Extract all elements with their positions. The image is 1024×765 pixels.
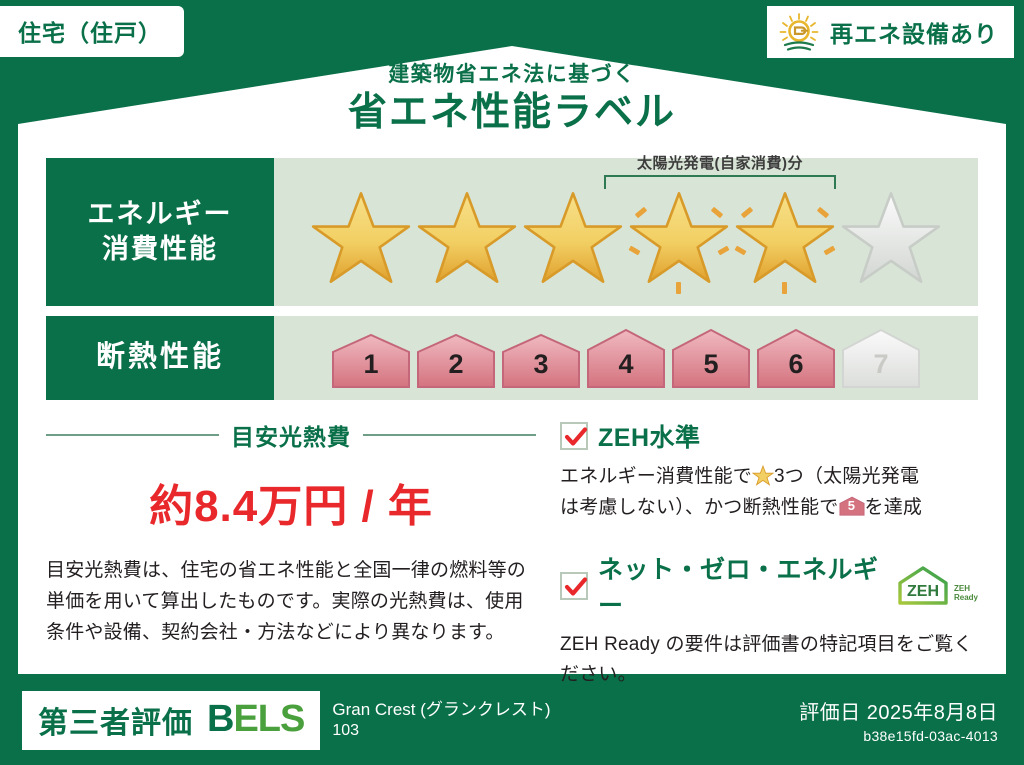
- star-filled-solar: [733, 186, 837, 290]
- energy-label-line1: エネルギー: [88, 197, 233, 232]
- zeh-standard-title: ZEH水準: [598, 418, 701, 454]
- insulation-level-number: 1: [330, 349, 412, 380]
- zeh-standard-header: ZEH水準: [560, 418, 978, 454]
- zeh-ready-line2: Ready: [954, 593, 978, 602]
- zeh-standard-body: エネルギー消費性能で3つ（太陽光発電は考慮しない）、かつ断熱性能で5を達成: [560, 462, 978, 524]
- insulation-level-number: 3: [500, 349, 582, 380]
- insulation-level-number: 5: [670, 349, 752, 380]
- energy-performance-row: エネルギー 消費性能 太陽光発電(自家消費)分: [46, 158, 978, 306]
- star-filled-solar: [627, 186, 731, 290]
- insulation-performance-row: 断熱性能 1 2: [46, 316, 978, 400]
- inline-house-number: 5: [839, 495, 865, 516]
- insulation-level: 6: [755, 326, 837, 390]
- zeh-body-part3: を達成: [865, 497, 923, 518]
- insulation-level: 4: [585, 326, 667, 390]
- energy-label-line2: 消費性能: [102, 232, 218, 267]
- property-info: Gran Crest (グランクレスト) 103: [332, 699, 550, 741]
- cost-note: 目安光熱費は、住宅の省エネ性能と全国一律の燃料等の単価を用いて算出したものです。…: [46, 556, 536, 648]
- insulation-level-number: 7: [840, 349, 922, 380]
- page-title: 省エネ性能ラベル: [0, 89, 1024, 138]
- cost-heading-text: 目安光熱費: [231, 418, 351, 452]
- insulation-level: 5: [670, 326, 752, 390]
- insulation-performance-label: 断熱性能: [46, 316, 274, 400]
- net-zero-energy-item: ネット・ゼロ・エネルギー ZEH ZEHReady ZEH Ready の要件は…: [560, 550, 978, 692]
- zeh-body-part2: は考慮しない）、かつ断熱性能で: [560, 497, 839, 518]
- bels-jp-label: 第三者評価: [38, 698, 193, 742]
- solar-annotation: 太陽光発電(自家消費)分: [604, 152, 836, 189]
- inline-star-icon: [752, 465, 774, 487]
- star-filled: [415, 186, 519, 290]
- inline-house-badge: 5: [839, 495, 865, 517]
- bels-letters-els: ELS: [233, 698, 304, 740]
- insulation-level: 2: [415, 330, 497, 390]
- check-icon: [560, 572, 588, 600]
- svg-text:ZEH: ZEH: [907, 583, 939, 600]
- star-empty: [839, 186, 943, 290]
- cost-value: 約8.4万円 / 年: [46, 470, 536, 534]
- cost-column: 目安光熱費 約8.4万円 / 年 目安光熱費は、住宅の省エネ性能と全国一律の燃料…: [46, 418, 536, 691]
- insulation-levels: 1 2 3 4: [274, 326, 978, 390]
- title-subtitle: 建築物省エネ法に基づく: [0, 62, 1024, 87]
- insulation-rating-area: 1 2 3 4: [274, 316, 978, 400]
- solar-sun-icon: [777, 12, 821, 52]
- solar-bracket: [604, 175, 836, 189]
- star-rating: [274, 186, 978, 290]
- footer: 第三者評価 BELS Gran Crest (グランクレスト) 103 評価日 …: [0, 675, 1024, 765]
- zeh-ready-line1: ZEH: [954, 584, 970, 593]
- net-zero-header: ネット・ゼロ・エネルギー ZEH ZEHReady: [560, 550, 978, 622]
- solar-annotation-label: 太陽光発電(自家消費)分: [604, 152, 836, 173]
- evaluation-id: b38e15fd-03ac-4013: [799, 728, 998, 744]
- performance-rows: エネルギー 消費性能 太陽光発電(自家消費)分: [46, 158, 978, 400]
- property-unit: 103: [332, 721, 550, 741]
- insulation-level-inactive: 7: [840, 326, 922, 390]
- star-filled: [309, 186, 413, 290]
- insulation-level-number: 6: [755, 349, 837, 380]
- net-zero-title: ネット・ゼロ・エネルギー: [598, 550, 880, 622]
- zeh-body-part1: エネルギー消費性能で: [560, 466, 752, 487]
- zeh-body-stars: 3つ（太陽光発電: [774, 466, 919, 487]
- zeh-standard-item: ZEH水準 エネルギー消費性能で3つ（太陽光発電は考慮しない）、かつ断熱性能で5…: [560, 418, 978, 524]
- insulation-level-number: 2: [415, 349, 497, 380]
- title-block: 建築物省エネ法に基づく 省エネ性能ラベル: [0, 62, 1024, 138]
- category-tag: 住宅（住戸）: [0, 6, 184, 57]
- lower-content: 目安光熱費 約8.4万円 / 年 目安光熱費は、住宅の省エネ性能と全国一律の燃料…: [46, 418, 978, 691]
- star-filled: [521, 186, 625, 290]
- insulation-level: 1: [330, 330, 412, 390]
- rule-left: [46, 434, 219, 436]
- zeh-ready-sublabel: ZEHReady: [954, 585, 978, 607]
- bels-letter-b: B: [207, 698, 233, 740]
- bels-logo: 第三者評価 BELS: [22, 691, 320, 750]
- rule-right: [363, 434, 536, 436]
- bels-wordmark: BELS: [207, 698, 304, 741]
- evaluation-date: 評価日 2025年8月8日: [799, 696, 998, 725]
- renewable-badge-label: 再エネ設備あり: [830, 15, 998, 49]
- evaluation-info: 評価日 2025年8月8日 b38e15fd-03ac-4013: [799, 696, 998, 744]
- zeh-ready-logo: ZEH ZEHReady: [896, 565, 978, 607]
- property-name: Gran Crest (グランクレスト): [332, 699, 550, 721]
- insulation-level: 3: [500, 330, 582, 390]
- energy-performance-label: エネルギー 消費性能: [46, 158, 274, 306]
- certification-column: ZEH水準 エネルギー消費性能で3つ（太陽光発電は考慮しない）、かつ断熱性能で5…: [536, 418, 978, 691]
- insulation-label-text: 断熱性能: [96, 339, 224, 376]
- check-icon: [560, 422, 588, 450]
- insulation-level-number: 4: [585, 349, 667, 380]
- renewable-energy-badge: 再エネ設備あり: [767, 6, 1014, 58]
- cost-heading: 目安光熱費: [46, 418, 536, 452]
- energy-rating-area: 太陽光発電(自家消費)分: [274, 158, 978, 306]
